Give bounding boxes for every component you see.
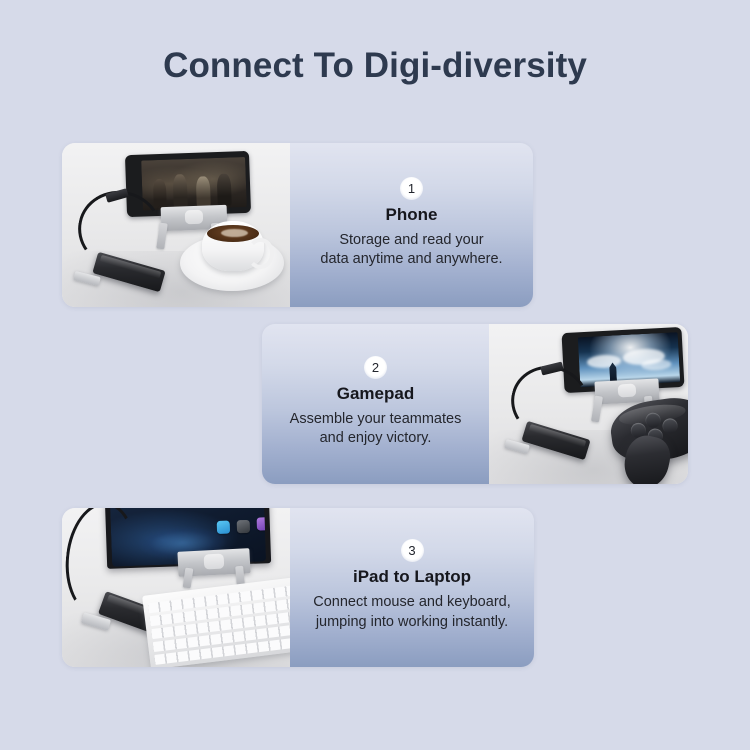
feature-description-line-2: jumping into working instantly. — [316, 614, 508, 630]
feature-title: iPad to Laptop — [353, 567, 471, 587]
feature-card-gamepad: 2 Gamepad Assemble your teammates and en… — [262, 324, 688, 484]
feature-description-line-2: data anytime and anywhere. — [320, 251, 502, 267]
feature-text-gamepad: 2 Gamepad Assemble your teammates and en… — [262, 324, 489, 484]
coffee-cup — [202, 221, 264, 271]
product-photo-gamepad — [489, 324, 688, 484]
feature-title: Gamepad — [337, 384, 414, 404]
feature-description: Connect mouse and keyboard, jumping into… — [313, 593, 511, 632]
feature-description: Assemble your teammates and enjoy victor… — [290, 410, 462, 449]
feature-description-line-1: Connect mouse and keyboard, — [313, 594, 511, 610]
page-title: Connect To Digi-diversity — [0, 46, 750, 86]
step-number-badge: 1 — [400, 177, 423, 200]
feature-title: Phone — [386, 205, 438, 225]
feature-card-ipad-to-laptop: 3 iPad to Laptop Connect mouse and keybo… — [62, 508, 534, 667]
step-number-badge: 2 — [364, 356, 387, 379]
app-icon — [256, 517, 266, 530]
step-number-badge: 3 — [401, 539, 424, 562]
product-photo-phone — [62, 143, 290, 307]
feature-card-phone: 1 Phone Storage and read your data anyti… — [62, 143, 533, 307]
app-icon — [217, 521, 230, 534]
phone-screen-video — [141, 157, 247, 211]
feature-description-line-1: Assemble your teammates — [290, 411, 462, 427]
feature-text-ipad: 3 iPad to Laptop Connect mouse and keybo… — [290, 508, 534, 667]
phone-screen-game — [577, 332, 680, 386]
feature-text-phone: 1 Phone Storage and read your data anyti… — [290, 143, 533, 307]
feature-description-line-1: Storage and read your — [339, 232, 483, 248]
product-photo-ipad — [62, 508, 290, 667]
app-icon — [237, 520, 250, 533]
feature-description-line-2: and enjoy victory. — [320, 430, 432, 446]
feature-description: Storage and read your data anytime and a… — [320, 231, 502, 270]
